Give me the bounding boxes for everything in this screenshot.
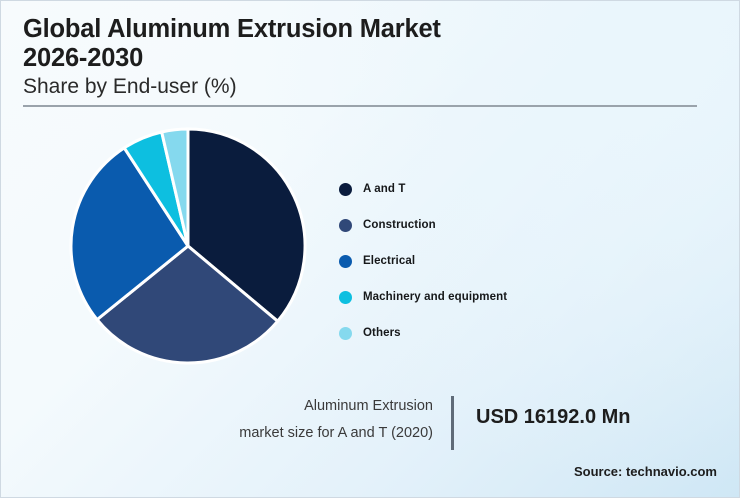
legend-item-others[interactable]: Others [339,315,659,351]
legend-item-electrical[interactable]: Electrical [339,243,659,279]
callout-line-1: Aluminum Extrusion [201,393,433,420]
legend-swatch-icon [339,255,352,268]
legend-swatch-icon [339,327,352,340]
chart-header: Global Aluminum Extrusion Market 2026-20… [23,15,713,99]
legend-swatch-icon [339,183,352,196]
chart-legend: A and T Construction Electrical Machiner… [339,171,659,351]
callout-value-wrap: USD 16192.0 Mn [454,393,631,428]
legend-item-label: Others [363,327,401,339]
chart-card: Global Aluminum Extrusion Market 2026-20… [0,0,740,498]
pie-chart-svg [63,121,313,371]
market-size-value: USD 16192.0 Mn [476,393,631,428]
page-title: Global Aluminum Extrusion Market 2026-20… [23,15,713,72]
legend-item-label: Construction [363,219,436,231]
legend-swatch-icon [339,291,352,304]
header-divider [23,105,697,107]
legend-item-a-and-t[interactable]: A and T [339,171,659,207]
legend-item-construction[interactable]: Construction [339,207,659,243]
legend-item-machinery-and-equipment[interactable]: Machinery and equipment [339,279,659,315]
source-label: Source: technavio.com [574,464,717,479]
chart-subtitle: Share by End-user (%) [23,74,713,99]
market-size-callout: Aluminum Extrusion market size for A and… [201,393,711,450]
legend-item-label: Machinery and equipment [363,291,507,303]
pie-slice-group [71,129,305,363]
pie-chart [63,121,313,371]
legend-item-label: A and T [363,183,405,195]
callout-description: Aluminum Extrusion market size for A and… [201,393,451,447]
legend-item-label: Electrical [363,255,415,267]
callout-line-2: market size for A and T (2020) [201,420,433,447]
legend-swatch-icon [339,219,352,232]
